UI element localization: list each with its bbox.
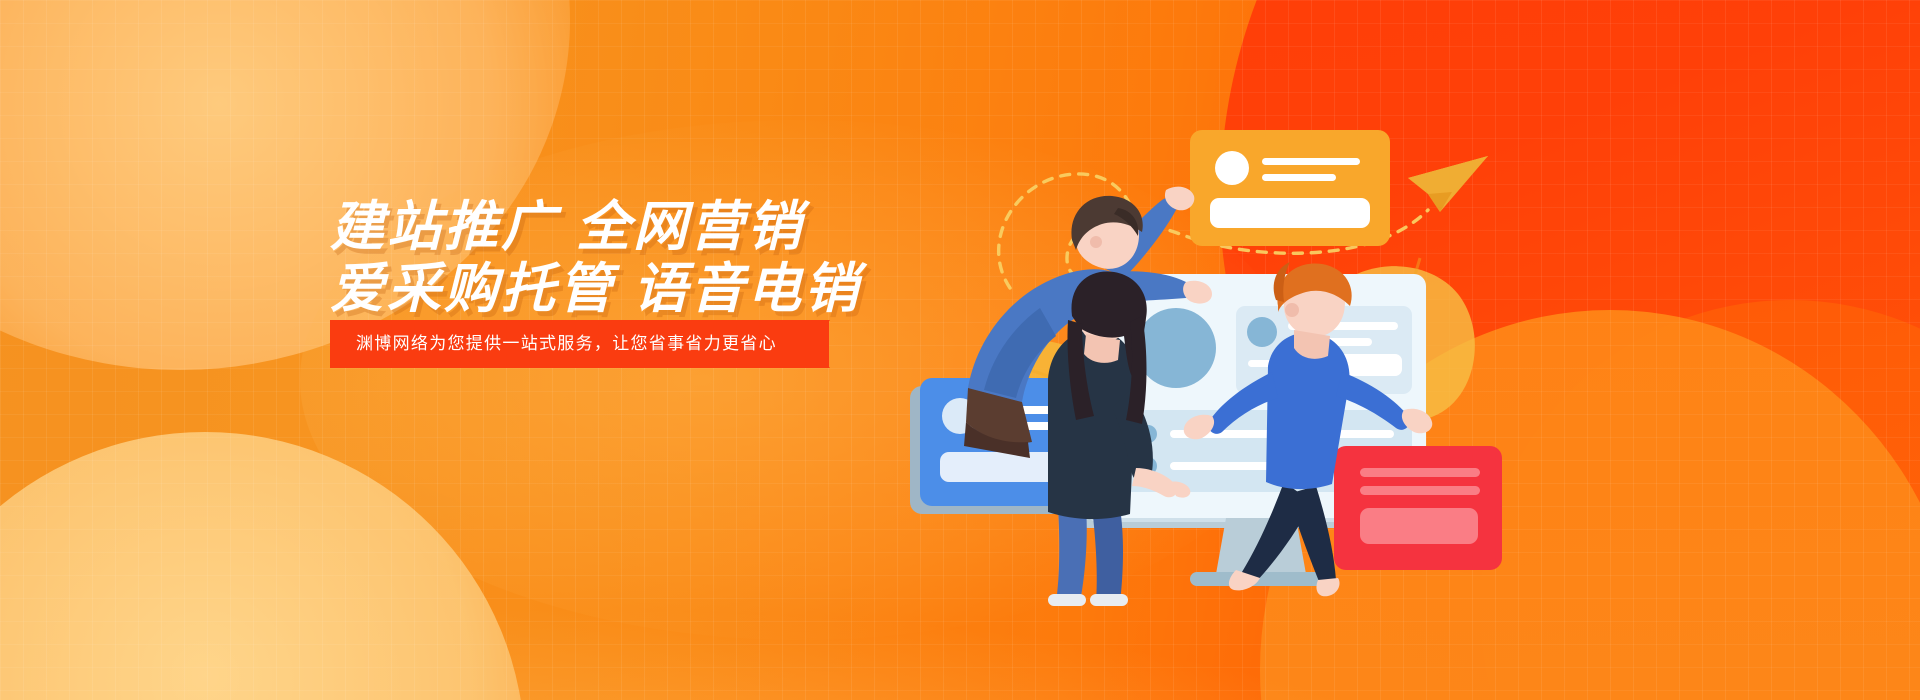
headline-line-1-part-2: 全网营销 [576,197,804,257]
headline-line-1-part-1: 建站推广 [330,197,558,257]
paper-plane-icon [1408,156,1488,212]
ribbon-notch-icon [805,320,830,368]
headline-line-2-part-2: 语音电销 [633,259,861,319]
promo-banner: 建站推广全网营销 爱采购托管语音电销 渊博网络为您提供一站式服务，让您省事省力更… [0,0,1920,700]
hero-illustration [880,90,1580,610]
tagline-text: 渊博网络为您提供一站式服务，让您省事省力更省心 [330,320,829,368]
headline-line-1: 建站推广全网营销 [330,196,970,258]
background-blob-bottom-left [0,432,525,700]
tagline-ribbon: 渊博网络为您提供一站式服务，让您省事省力更省心 [330,320,829,368]
headline-line-2: 爱采购托管语音电销 [330,258,970,320]
headline-line-2-part-1: 爱采购托管 [330,259,615,319]
red-list-card [1334,446,1502,570]
yellow-profile-card [1190,130,1390,246]
banner-copy: 建站推广全网营销 爱采购托管语音电销 渊博网络为您提供一站式服务，让您省事省力更… [330,196,970,368]
